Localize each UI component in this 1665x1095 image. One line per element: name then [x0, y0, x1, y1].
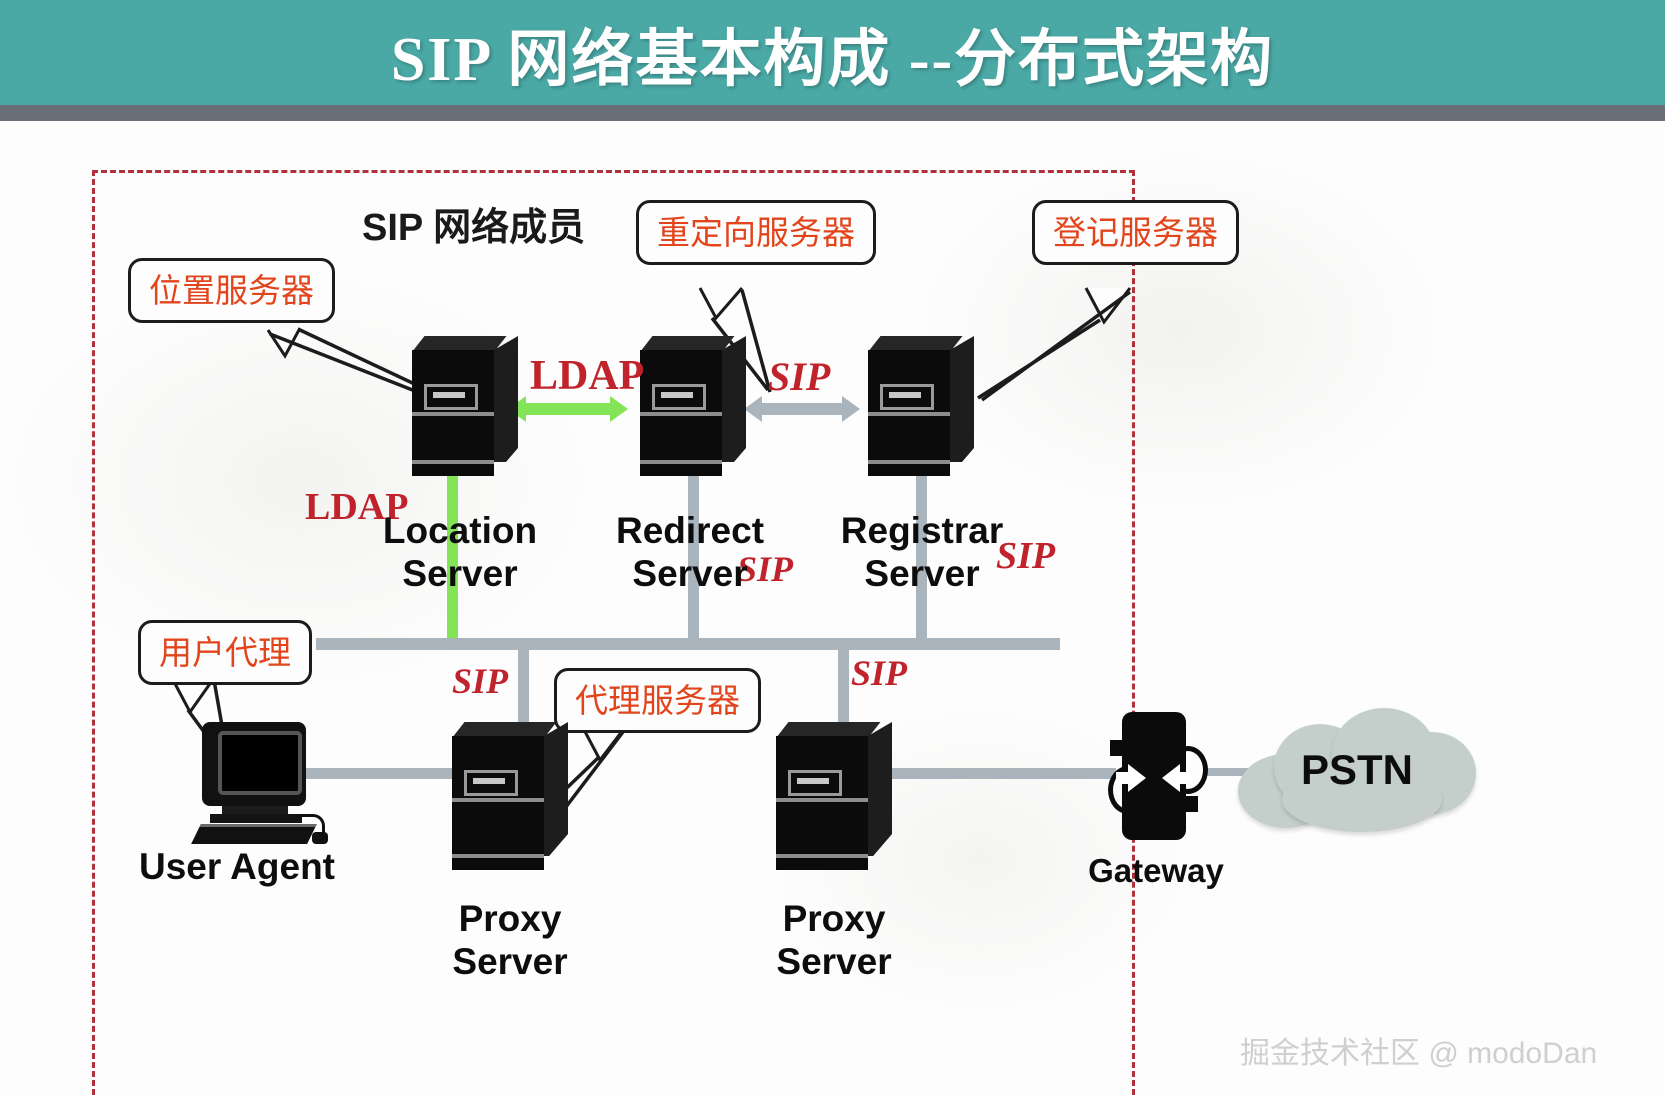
server-side-icon — [544, 722, 568, 856]
node-label-user-agent: User Agent — [122, 846, 352, 889]
device-proxy-server-1[interactable] — [452, 722, 570, 870]
node-label-redirect-server: Redirect Server — [580, 510, 800, 595]
server-seam-icon — [452, 854, 544, 858]
monitor-base-icon — [210, 814, 302, 823]
server-seam-icon — [412, 460, 494, 464]
server-side-icon — [722, 336, 746, 462]
server-front-icon — [412, 350, 494, 476]
callout-registrar-server[interactable]: 登记服务器 — [1032, 200, 1239, 265]
pstn-cloud[interactable]: PSTN — [1238, 706, 1476, 834]
device-user-agent[interactable] — [196, 722, 326, 854]
protocol-label-ldap-location-redirect: LDAP — [530, 352, 644, 400]
callout-location-server[interactable]: 位置服务器 — [128, 258, 335, 323]
protocol-label-sip-redirect-registrar: SIP — [768, 353, 830, 400]
server-drive-slot-icon — [652, 384, 706, 410]
protocol-label-sip-proxy-2-bus: SIP — [851, 652, 907, 694]
server-drive-slot-icon — [880, 384, 934, 410]
server-seam-icon — [868, 460, 950, 464]
callout-proxy-server[interactable]: 代理服务器 — [554, 668, 761, 733]
header-accent-bar — [0, 105, 1665, 121]
server-drive-slot-icon — [788, 770, 842, 796]
pstn-label: PSTN — [1238, 706, 1476, 834]
device-proxy-server-2[interactable] — [776, 722, 894, 870]
device-registrar-server[interactable] — [868, 336, 974, 476]
server-seam-icon — [776, 798, 868, 802]
page-title: SIP 网络基本构成 --分布式架构 — [0, 0, 1665, 105]
node-label-proxy-server-1: Proxy Server — [400, 898, 620, 983]
node-label-gateway: Gateway — [1058, 852, 1254, 890]
monitor-screen-icon — [218, 731, 302, 795]
server-seam-icon — [412, 412, 494, 416]
callout-redirect-server[interactable]: 重定向服务器 — [636, 200, 876, 265]
device-location-server[interactable] — [412, 336, 518, 476]
server-seam-icon — [776, 854, 868, 858]
server-drive-slot-icon — [464, 770, 518, 796]
server-seam-icon — [640, 412, 722, 416]
gateway-arrows-icon — [1106, 758, 1202, 804]
gateway-tab-icon — [1110, 740, 1130, 756]
node-label-proxy-server-2: Proxy Server — [724, 898, 944, 983]
monitor-icon — [202, 722, 306, 806]
server-seam-icon — [452, 798, 544, 802]
node-label-registrar-server: Registrar Server — [812, 510, 1032, 595]
server-front-icon — [640, 350, 722, 476]
section-title: SIP 网络成员 — [362, 196, 585, 251]
node-label-location-server: Location Server — [350, 510, 570, 595]
server-side-icon — [868, 722, 892, 856]
backbone-bus — [316, 638, 1060, 650]
slide-canvas: SIP 网络基本构成 --分布式架构 SIP 网络成员 位置服务器 重定向服务器… — [0, 0, 1665, 1095]
server-front-icon — [868, 350, 950, 476]
server-drive-slot-icon — [424, 384, 478, 410]
wire-ua-to-proxy-1 — [306, 768, 462, 779]
callout-user-agent[interactable]: 用户代理 — [138, 620, 312, 685]
device-gateway[interactable] — [1106, 712, 1202, 840]
device-redirect-server[interactable] — [640, 336, 746, 476]
mouse-icon — [312, 832, 328, 844]
server-front-icon — [776, 736, 868, 870]
server-seam-icon — [868, 412, 950, 416]
server-side-icon — [950, 336, 974, 462]
protocol-label-sip-proxy-1-bus: SIP — [452, 660, 508, 702]
server-seam-icon — [640, 460, 722, 464]
server-side-icon — [494, 336, 518, 462]
server-front-icon — [452, 736, 544, 870]
watermark: 掘金技术社区 @ modoDan — [1240, 1028, 1597, 1072]
wire-proxy-2-to-gateway — [876, 768, 1116, 779]
